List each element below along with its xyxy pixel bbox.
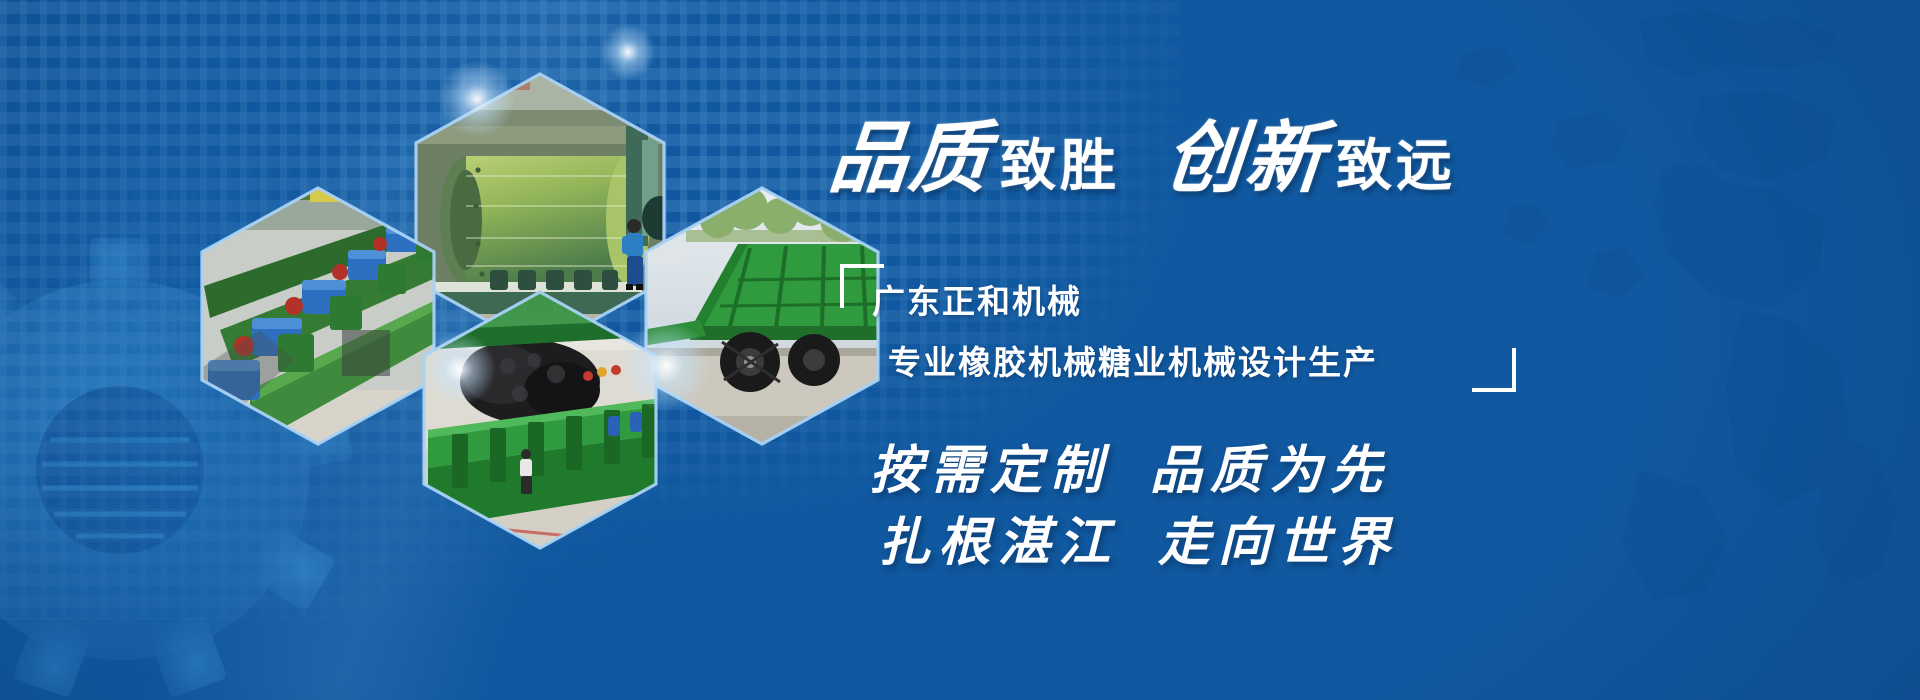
slogan-2-left: 扎根湛江 — [878, 515, 1118, 572]
headline-rest-1: 致胜 — [1000, 121, 1120, 202]
corner-bracket-bottom-right-icon — [1472, 348, 1516, 392]
company-business-scope: 专业橡胶机械糖业机械设计生产 — [840, 325, 1500, 386]
company-subtitle-block: 广东正和机械 专业橡胶机械糖业机械设计生产 — [840, 264, 1500, 384]
hexagon-photo-collage — [190, 30, 890, 550]
hex-photo-bottom — [420, 288, 662, 550]
slogan-block: 按需定制品质为先 扎根湛江走向世界 — [870, 436, 1398, 580]
hex-photo-left — [198, 184, 440, 448]
banner-headline: 品质致胜创新致远 — [830, 96, 1850, 192]
slogan-2-right: 走向世界 — [1158, 515, 1398, 572]
banner-text-block: 品质致胜创新致远 广东正和机械 专业橡胶机械糖业机械设计生产 按需定制品质为先 … — [830, 96, 1850, 616]
company-name: 广东正和机械 — [840, 264, 1500, 325]
slogan-1-left: 按需定制 — [870, 443, 1110, 500]
slogan-line-1: 按需定制品质为先 — [870, 436, 1398, 508]
slogan-line-2: 扎根湛江走向世界 — [870, 508, 1398, 580]
headline-emphasis-2: 创新 — [1161, 96, 1331, 208]
slogan-1-right: 品质为先 — [1150, 443, 1390, 500]
promotional-banner: 品质致胜创新致远 广东正和机械 专业橡胶机械糖业机械设计生产 按需定制品质为先 … — [0, 0, 1920, 700]
corner-bracket-top-left-icon — [840, 264, 884, 308]
headline-rest-2: 致远 — [1336, 121, 1456, 202]
headline-emphasis-1: 品质 — [825, 96, 995, 208]
